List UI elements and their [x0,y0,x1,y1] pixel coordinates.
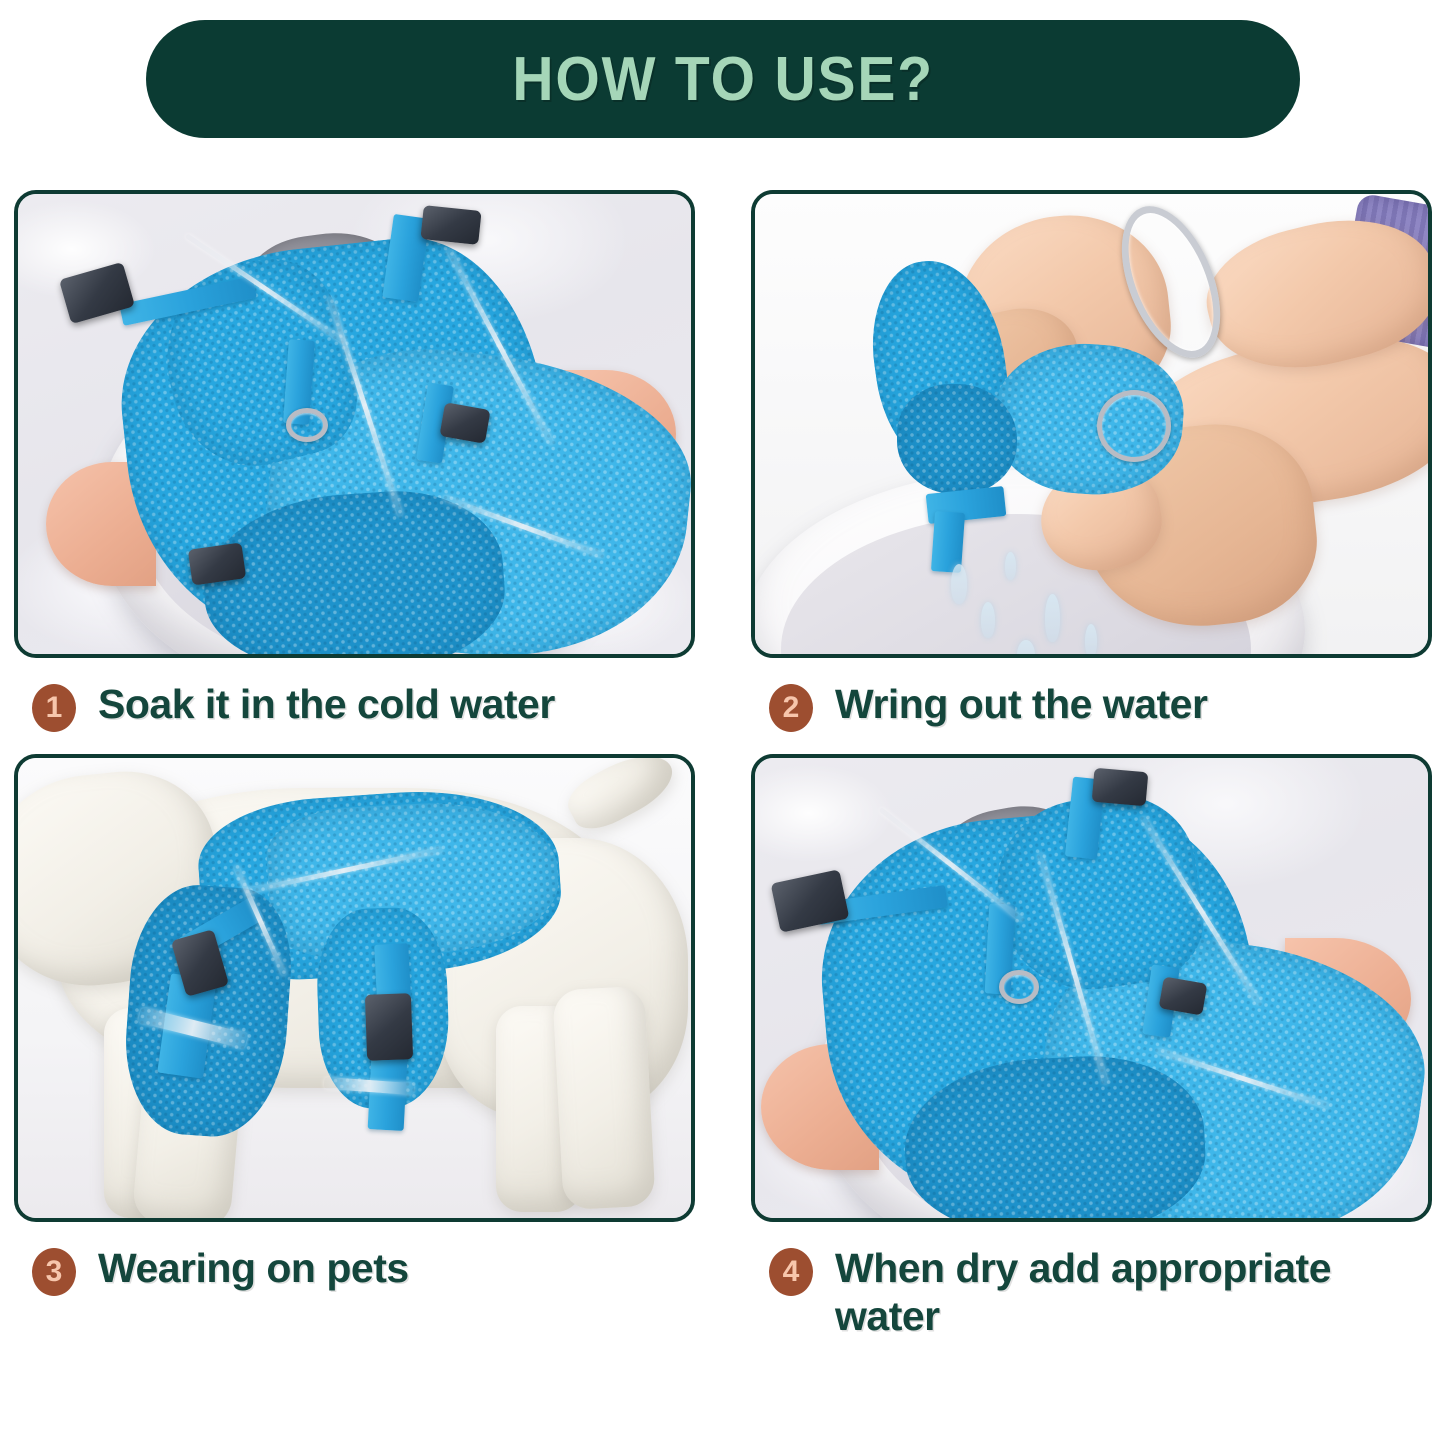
step-number-badge: 2 [769,684,813,732]
d-ring [1097,390,1171,462]
d-ring [999,970,1039,1004]
step-number-badge: 3 [32,1248,76,1296]
step-number-badge: 1 [32,684,76,732]
step-label: Wearing on pets [98,1244,409,1292]
harness-soaking-in-basin [18,194,691,654]
step-4-photo [751,754,1432,1222]
step-label: Soak it in the cold water [98,680,555,728]
step-3-photo [14,754,695,1222]
steps-grid: 1 Soak it in the cold water [0,190,1445,1363]
step-card-3: 3 Wearing on pets [14,754,695,1341]
step-2-photo [751,190,1432,658]
step-1-caption: 1 Soak it in the cold water [14,658,695,732]
step-4-caption: 4 When dry add appropriate water [751,1222,1432,1341]
step-card-4: 4 When dry add appropriate water [751,754,1432,1341]
page-title: HOW TO USE? [512,44,934,115]
step-number-badge: 4 [769,1248,813,1296]
dog-mannequin-wearing-harness [18,758,691,1218]
how-to-use-banner: HOW TO USE? [146,20,1300,138]
steps-row-1: 1 Soak it in the cold water [0,190,1445,732]
step-3-caption: 3 Wearing on pets [14,1222,695,1296]
harness-in-basin-add-water [755,758,1428,1218]
steps-row-2: 3 Wearing on pets [0,754,1445,1341]
step-label: When dry add appropriate water [835,1244,1432,1341]
hands-wringing-harness [755,194,1428,654]
d-ring [286,408,328,442]
step-card-2: 2 Wring out the water [751,190,1432,732]
step-card-1: 1 Soak it in the cold water [14,190,695,732]
step-2-caption: 2 Wring out the water [751,658,1432,732]
step-label: Wring out the water [835,680,1207,728]
step-1-photo [14,190,695,658]
